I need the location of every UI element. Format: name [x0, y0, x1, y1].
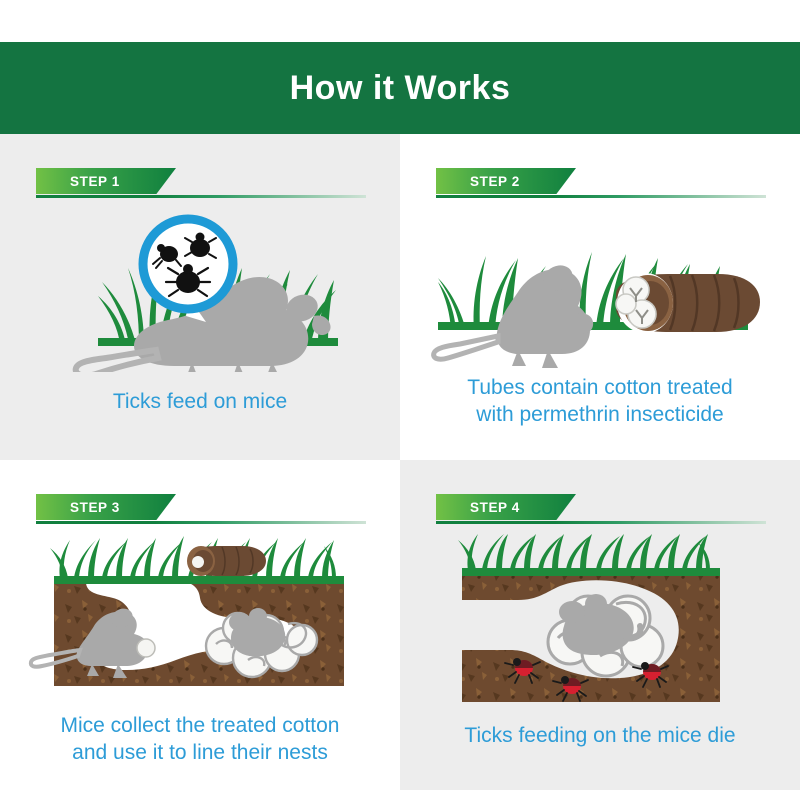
- grass-icon: [458, 534, 720, 576]
- infographic-page: How it Works STEP 1: [0, 0, 800, 800]
- caption-line: Ticks feed on mice: [0, 388, 400, 415]
- step-panel-3: STEP 3: [0, 460, 400, 800]
- page-title: How it Works: [290, 69, 511, 108]
- caption-step-4: Ticks feeding on the mice die: [400, 722, 800, 749]
- step-badge-2: STEP 2: [436, 168, 576, 194]
- step-badge-1: STEP 1: [36, 168, 176, 194]
- caption-line: Mice collect the treated cotton: [0, 712, 400, 739]
- illustration-step-4: [420, 534, 780, 706]
- step-badge-3: STEP 3: [36, 494, 176, 520]
- step-rule: [36, 195, 366, 198]
- step-rule: [36, 521, 366, 524]
- caption-step-2: Tubes contain cotton treated with permet…: [400, 374, 800, 428]
- caption-line: with permethrin insecticide: [400, 401, 800, 428]
- step-badge-4: STEP 4: [436, 494, 576, 520]
- step-rule: [436, 195, 766, 198]
- caption-line: Tubes contain cotton treated: [400, 374, 800, 401]
- step-header-4: STEP 4: [436, 494, 766, 526]
- log-tube-icon: [187, 546, 266, 576]
- steps-grid: STEP 1: [0, 134, 800, 800]
- step-rule: [436, 521, 766, 524]
- step-panel-1: STEP 1: [0, 134, 400, 460]
- step-badge-label: STEP 3: [36, 500, 120, 515]
- step-badge-label: STEP 4: [436, 500, 520, 515]
- step-header-2: STEP 2: [436, 168, 766, 200]
- step-header-1: STEP 1: [36, 168, 366, 200]
- caption-line: Ticks feeding on the mice die: [400, 722, 800, 749]
- step-badge-label: STEP 2: [436, 174, 520, 189]
- caption-line: and use it to line their nests: [0, 739, 400, 766]
- caption-step-3: Mice collect the treated cotton and use …: [0, 712, 400, 766]
- step-panel-4: STEP 4: [400, 460, 800, 790]
- caption-step-1: Ticks feed on mice: [0, 388, 400, 415]
- step-panel-2: STEP 2: [400, 134, 800, 460]
- illustration-step-2: [430, 210, 780, 370]
- log-tube-icon: [616, 273, 760, 333]
- illustration-step-3: [26, 536, 376, 704]
- illustration-step-1: [40, 212, 370, 372]
- step-header-3: STEP 3: [36, 494, 366, 526]
- step-badge-label: STEP 1: [36, 174, 120, 189]
- header-bar: How it Works: [0, 42, 800, 134]
